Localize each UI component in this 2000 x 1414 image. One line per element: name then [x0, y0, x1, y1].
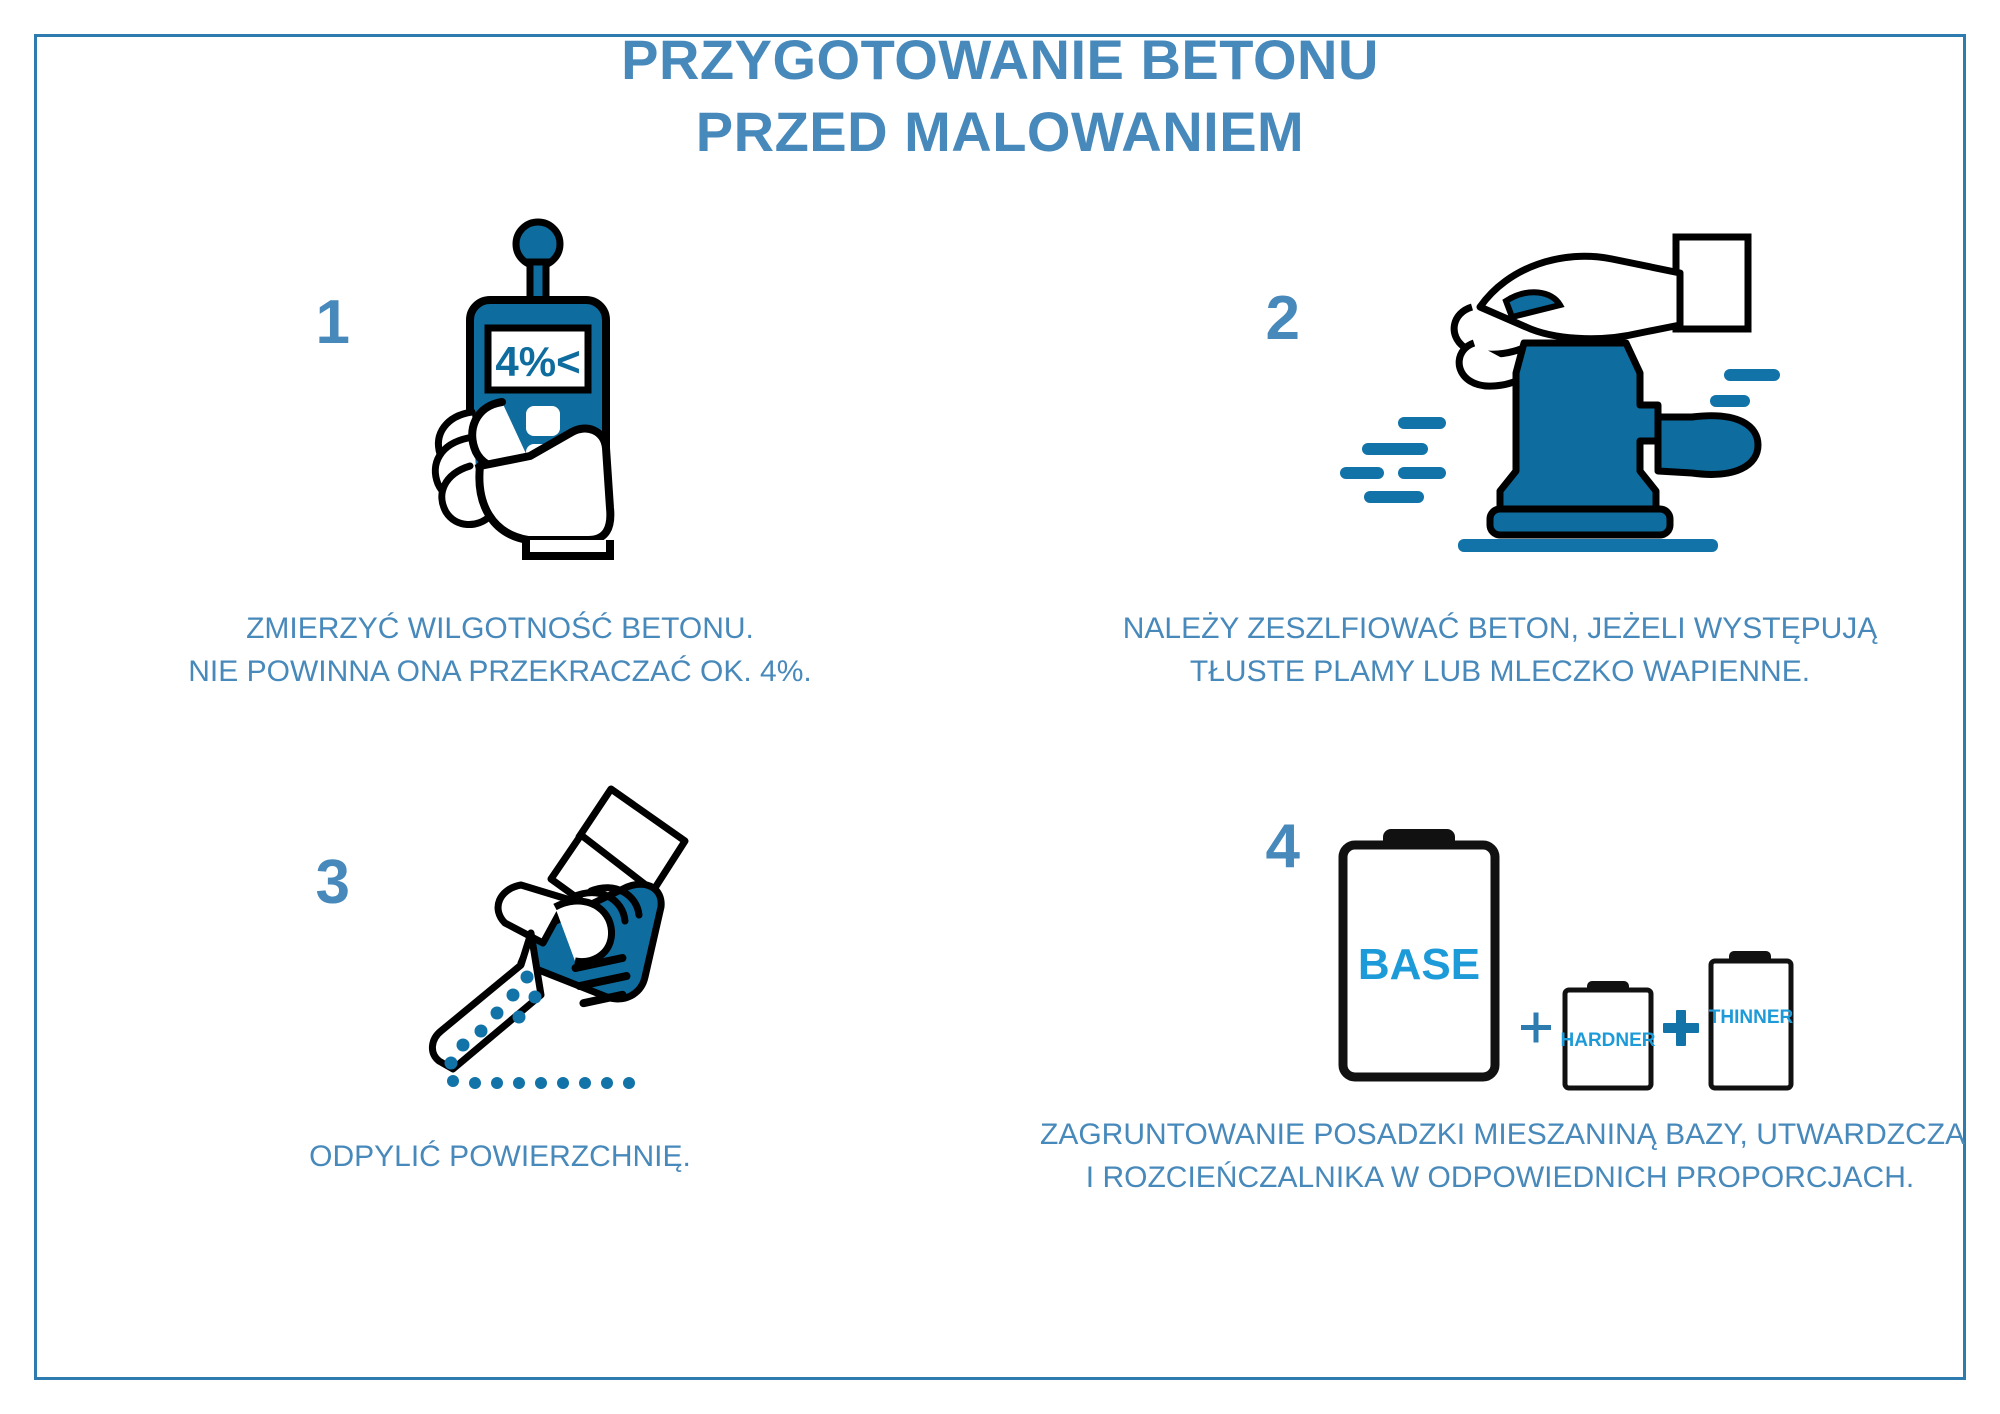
step-item-4: 4 BASE	[1000, 756, 2000, 1316]
step-number-3: 3	[230, 852, 350, 914]
base-can-label: BASE	[1358, 940, 1480, 989]
steps-grid: 1 4%<	[0, 196, 2000, 1316]
step-4-body: 4 BASE	[1000, 756, 2000, 1096]
plus-operator-2	[1663, 1010, 1699, 1046]
title-line-2: PRZED MALOWANIEM	[0, 96, 2000, 168]
meter-reading: 4%<	[495, 338, 580, 385]
step-1-caption-line-2: NIE POWINNA ONA PRZEKRACZAĆ OK. 4%.	[40, 651, 960, 694]
step-2-caption-line-1: NALEŻY ZESZLFIOWAĆ BETON, JEŻELI WYSTĘPU…	[1040, 608, 1960, 651]
step-4-caption: ZAGRUNTOWANIE POSADZKI MIESZANINĄ BAZY, …	[1040, 1114, 1960, 1199]
step-item-1: 1 4%<	[0, 196, 1000, 756]
moisture-meter-in-hand-icon: 4%<	[350, 196, 770, 576]
step-4-caption-line-1: ZAGRUNTOWANIE POSADZKI MIESZANINĄ BAZY, …	[1040, 1114, 1960, 1157]
infographic-poster: PRZYGOTOWANIE BETONU PRZED MALOWANIEM 1	[0, 0, 2000, 1414]
step-number-2: 2	[1180, 288, 1300, 350]
paint-components-icon: BASE HARDNER	[1300, 756, 1820, 1136]
step-item-2: 2	[1000, 196, 2000, 756]
orbital-sander-in-hand-icon	[1300, 196, 1820, 576]
step-4-caption-line-2: I ROZCIEŃCZALNIKA W ODPOWIEDNICH PROPORC…	[1040, 1157, 1960, 1200]
step-item-3: 3	[0, 756, 1000, 1316]
step-3-body: 3	[0, 756, 1000, 1126]
step-number-1: 1	[230, 292, 350, 354]
hardner-can-label: HARDNER	[1561, 1030, 1656, 1051]
step-1-body: 1 4%<	[0, 196, 1000, 586]
title-line-1: PRZYGOTOWANIE BETONU	[0, 24, 2000, 96]
step-1-caption-line-1: ZMIERZYĆ WILGOTNOŚĆ BETONU.	[40, 608, 960, 651]
step-3-caption-line-1: ODPYLIĆ POWIERZCHNIĘ.	[40, 1136, 960, 1179]
plus-operator-1	[1521, 1013, 1551, 1043]
step-2-caption-line-2: TŁUSTE PLAMY LUB MLECZKO WAPIENNE.	[1040, 651, 1960, 694]
step-3-caption: ODPYLIĆ POWIERZCHNIĘ.	[40, 1136, 960, 1179]
step-1-caption: ZMIERZYĆ WILGOTNOŚĆ BETONU. NIE POWINNA …	[40, 608, 960, 693]
step-2-body: 2	[1000, 196, 2000, 586]
step-2-caption: NALEŻY ZESZLFIOWAĆ BETON, JEŻELI WYSTĘPU…	[1040, 608, 1960, 693]
thinner-can-label: THINNER	[1709, 1007, 1794, 1028]
step-number-4: 4	[1180, 816, 1300, 878]
page-title: PRZYGOTOWANIE BETONU PRZED MALOWANIEM	[0, 24, 2000, 167]
handheld-vacuum-in-hand-icon	[350, 756, 770, 1136]
